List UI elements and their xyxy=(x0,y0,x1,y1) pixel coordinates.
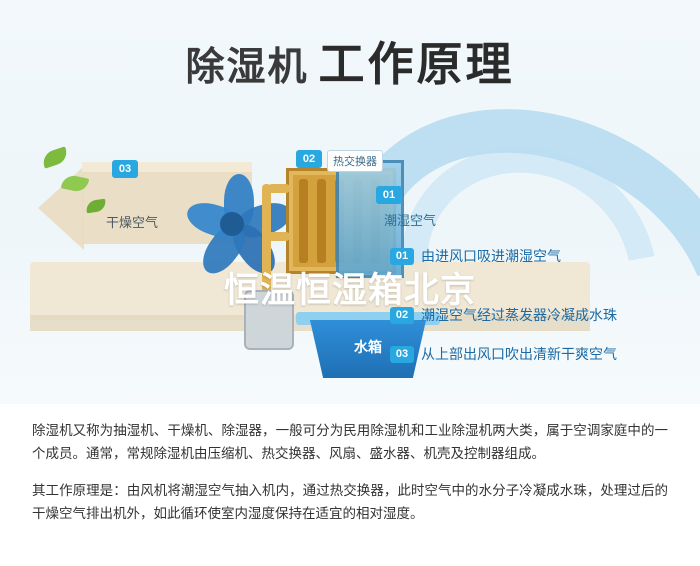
dry-air-label: 干燥空气 xyxy=(106,212,158,231)
step-text: 从上部出风口吹出清新干爽空气 xyxy=(421,347,617,363)
coil-tube xyxy=(317,179,326,263)
heat-exchanger-tag: 热交换器 xyxy=(327,150,383,172)
page-root: 除湿机工作原理 xyxy=(0,0,700,566)
badge-03: 03 xyxy=(112,160,138,178)
title-part-1: 除湿机 xyxy=(185,45,308,90)
refrigerant-pipe xyxy=(268,232,290,241)
refrigerant-pipe xyxy=(268,184,290,193)
fan-hub xyxy=(220,212,244,236)
title-part-2: 工作原理 xyxy=(319,37,515,91)
step-item-01: 01由进风口吸进潮湿空气 xyxy=(390,246,561,266)
description-block: 除湿机又称为抽湿机、干燥机、除湿器，一般可分为民用除湿机和工业除湿机两大类，属于… xyxy=(0,404,700,566)
step-number: 03 xyxy=(390,346,414,363)
step-text: 潮湿空气经过蒸发器冷凝成水珠 xyxy=(421,308,617,324)
description-paragraph-2: 其工作原理是：由风机将潮湿空气抽入机内，通过热交换器，此时空气中的水分子冷凝成水… xyxy=(32,480,668,526)
step-text: 由进风口吸进潮湿空气 xyxy=(421,249,561,265)
step-item-02: 02潮湿空气经过蒸发器冷凝成水珠 xyxy=(390,305,617,325)
badge-02: 02 xyxy=(296,150,322,168)
step-item-03: 03从上部出风口吹出清新干爽空气 xyxy=(390,344,617,364)
humid-air-label: 潮湿空气 xyxy=(384,210,436,229)
page-title: 除湿机工作原理 xyxy=(0,28,700,94)
step-number: 01 xyxy=(390,248,414,265)
step-number: 02 xyxy=(390,307,414,324)
badge-01: 01 xyxy=(376,186,402,204)
coil-tube xyxy=(299,179,308,263)
refrigerant-pipe xyxy=(262,184,271,294)
description-paragraph-1: 除湿机又称为抽湿机、干燥机、除湿器，一般可分为民用除湿机和工业除湿机两大类，属于… xyxy=(32,420,668,466)
illustration-panel: 除湿机工作原理 xyxy=(0,0,700,404)
compressor xyxy=(244,290,294,350)
